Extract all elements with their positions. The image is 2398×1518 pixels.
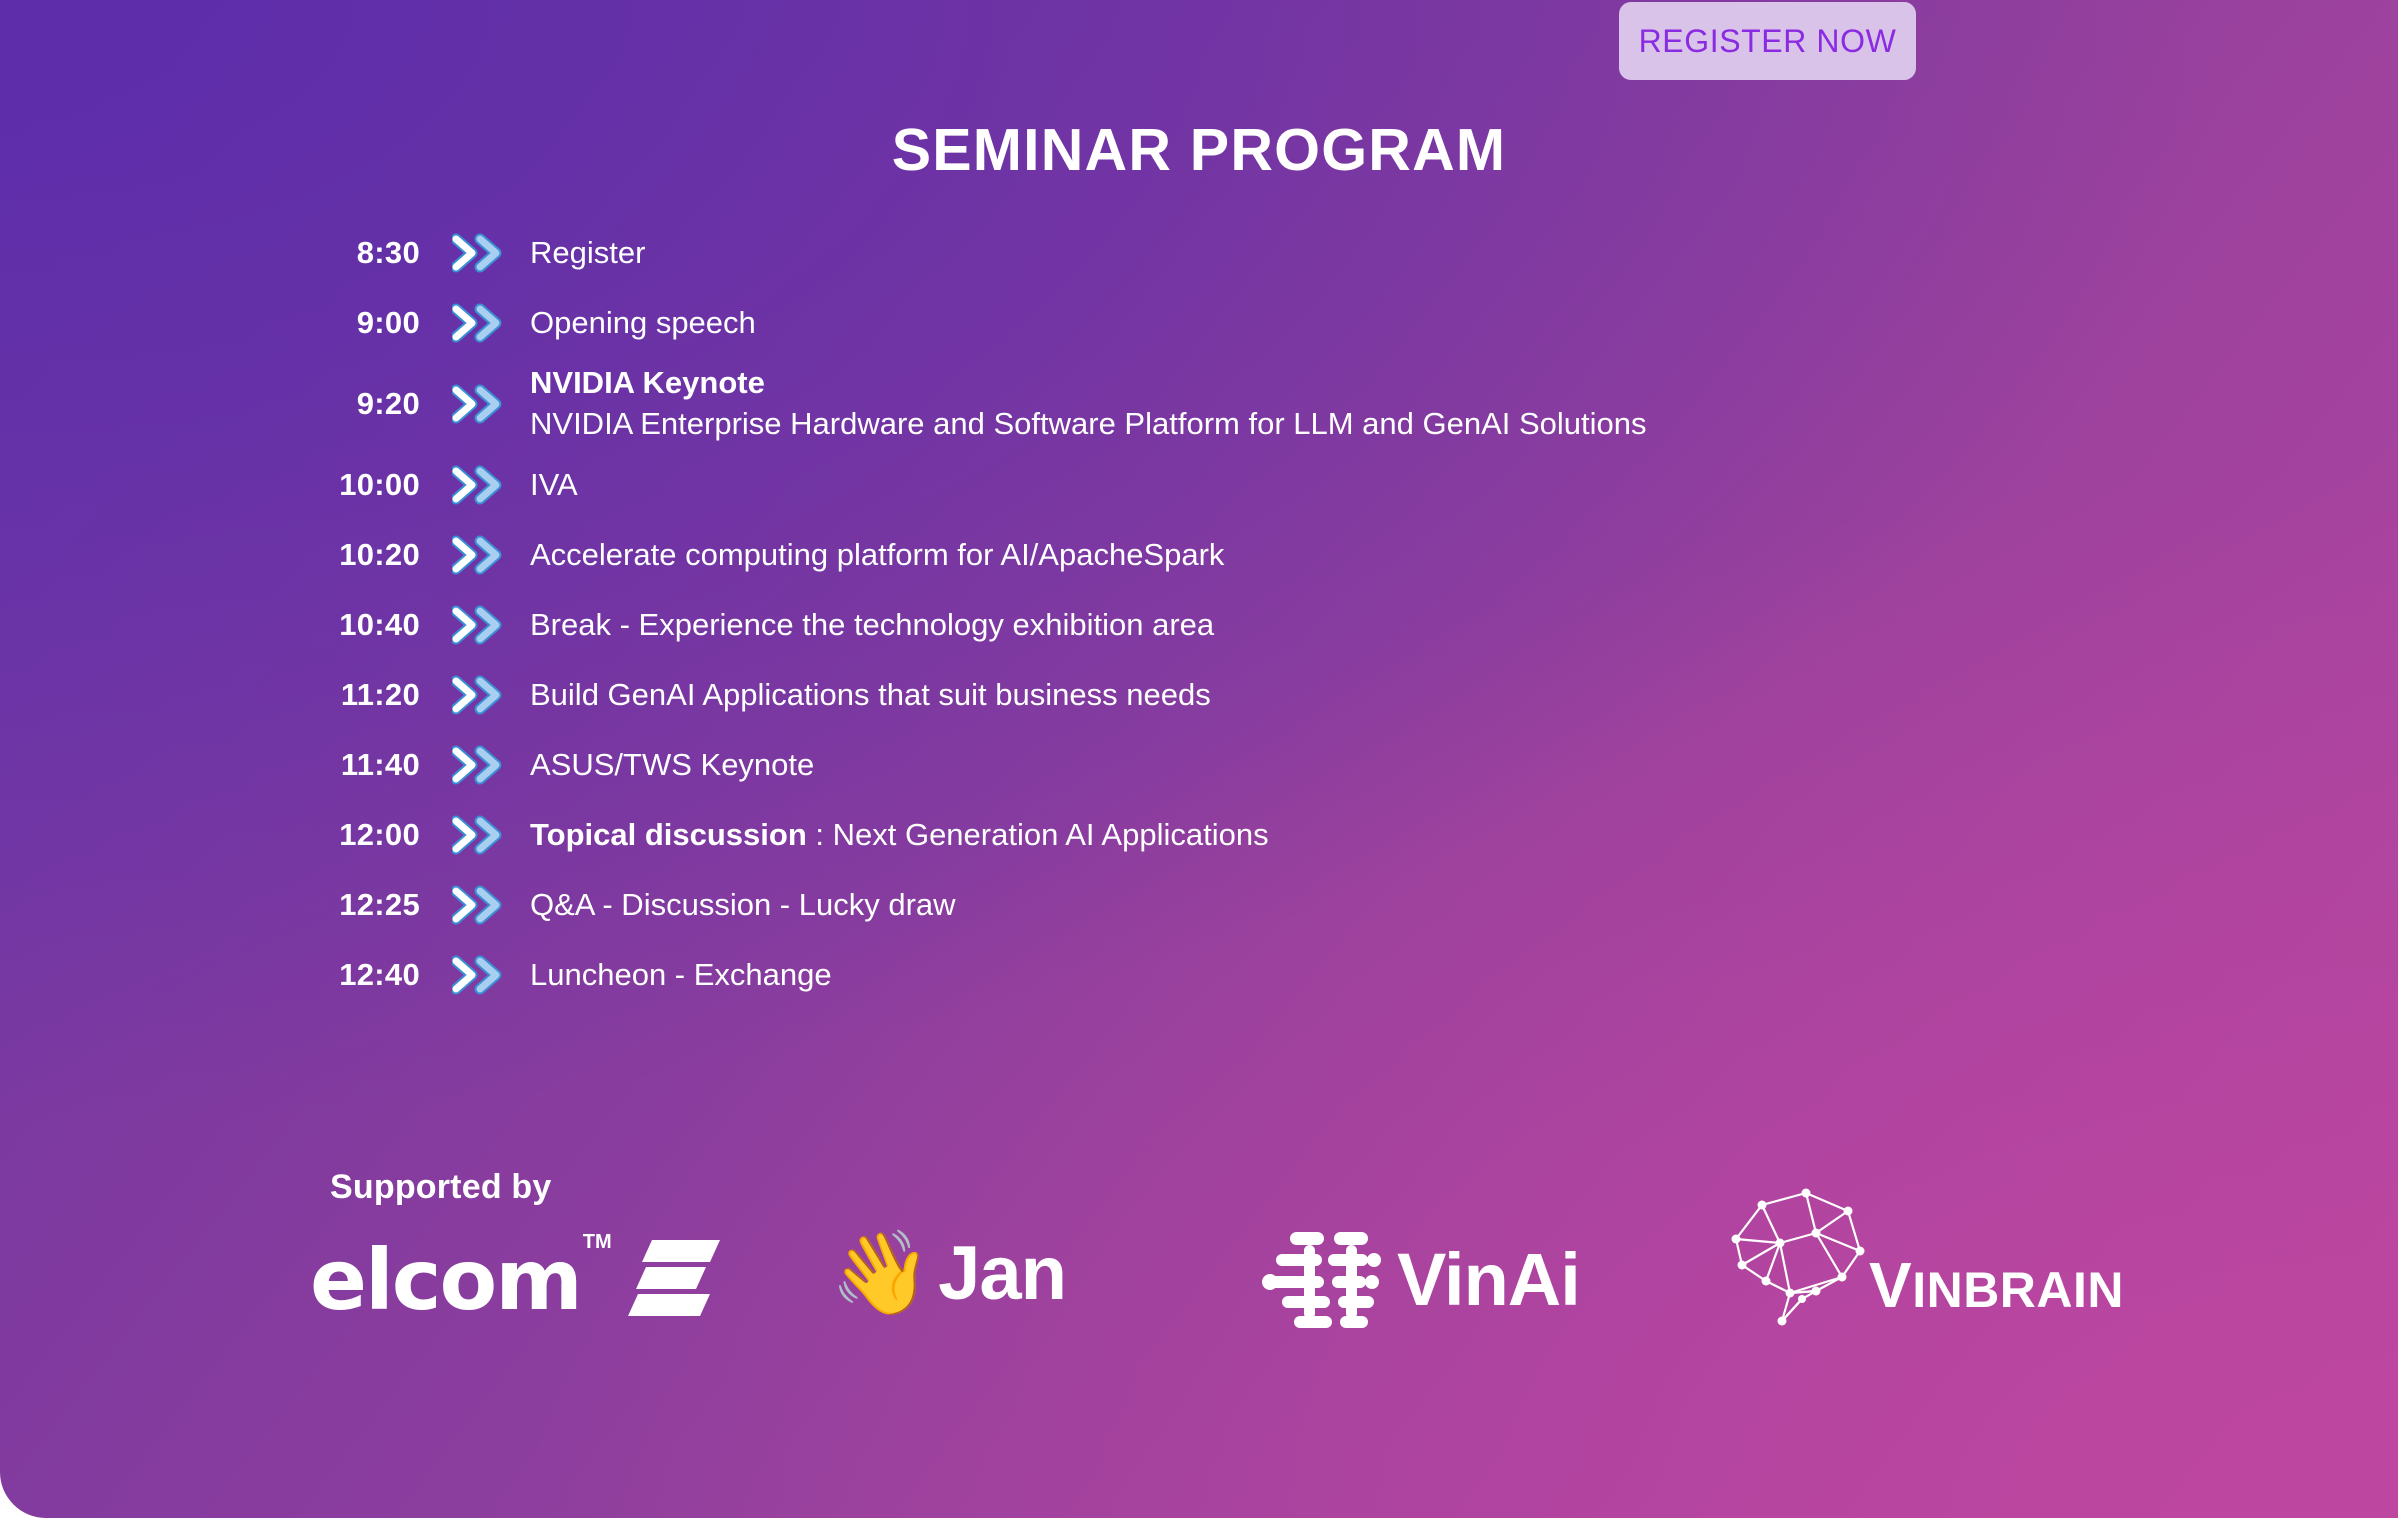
schedule-time: 12:40 bbox=[240, 957, 420, 993]
double-chevron-right-icon bbox=[420, 535, 526, 575]
sponsor-logo-row: elcom TM 👋 Jan bbox=[300, 1215, 2200, 1365]
double-chevron-right-icon bbox=[420, 955, 526, 995]
schedule-row: 12:00 Topical discussion : Next Generati… bbox=[240, 800, 2240, 870]
slanted-e-mark-icon bbox=[626, 1230, 722, 1331]
schedule-detail: NVIDIA Enterprise Hardware and Software … bbox=[530, 404, 2240, 445]
waving-hand-emoji-icon: 👋 bbox=[830, 1233, 932, 1315]
schedule-description: ASUS/TWS Keynote bbox=[526, 745, 2240, 786]
schedule-title: Topical discussion bbox=[530, 817, 807, 852]
schedule-title: Opening speech bbox=[530, 305, 756, 340]
schedule-row: 12:40 Luncheon - Exchange bbox=[240, 940, 2240, 1010]
supported-by-label: Supported by bbox=[330, 1168, 552, 1207]
schedule-title: Q&A - Discussion - Lucky draw bbox=[530, 887, 956, 922]
logo-vinai: VinAi bbox=[1260, 1215, 1580, 1345]
elcom-trademark-symbol: TM bbox=[583, 1231, 612, 1254]
register-now-button[interactable]: REGISTER NOW bbox=[1619, 2, 1916, 80]
double-chevron-right-icon bbox=[420, 675, 526, 715]
double-chevron-right-icon bbox=[420, 384, 526, 424]
double-chevron-right-icon bbox=[420, 885, 526, 925]
schedule-row: 9:00 Opening speech bbox=[240, 288, 2240, 358]
schedule-row: 10:00 IVA bbox=[240, 450, 2240, 520]
schedule-description: Topical discussion : Next Generation AI … bbox=[526, 815, 2240, 856]
schedule-title: Build GenAI Applications that suit busin… bbox=[530, 677, 1211, 712]
double-chevron-right-icon bbox=[420, 465, 526, 505]
seminar-program-poster: REGISTER NOW SEMINAR PROGRAM 8:30 Regist… bbox=[0, 0, 2398, 1518]
schedule-time: 9:00 bbox=[240, 305, 420, 341]
schedule-row: 10:20 Accelerate computing platform for … bbox=[240, 520, 2240, 590]
schedule-row: 8:30 Register bbox=[240, 218, 2240, 288]
schedule-description: Luncheon - Exchange bbox=[526, 955, 2240, 996]
schedule-row: 11:20 Build GenAI Applications that suit… bbox=[240, 660, 2240, 730]
schedule-description: Build GenAI Applications that suit busin… bbox=[526, 675, 2240, 716]
logo-elcom: elcom TM bbox=[310, 1215, 722, 1345]
schedule-row: 11:40 ASUS/TWS Keynote bbox=[240, 730, 2240, 800]
jan-wordmark: Jan bbox=[938, 1236, 1066, 1312]
schedule-description: Accelerate computing platform for AI/Apa… bbox=[526, 535, 2240, 576]
schedule-description: Register bbox=[526, 233, 2240, 274]
schedule-title: ASUS/TWS Keynote bbox=[530, 747, 814, 782]
schedule-row: 12:25 Q&A - Discussion - Lucky draw bbox=[240, 870, 2240, 940]
double-chevron-right-icon bbox=[420, 815, 526, 855]
double-chevron-right-icon bbox=[420, 233, 526, 273]
schedule-time: 12:25 bbox=[240, 887, 420, 923]
schedule-description: Break - Experience the technology exhibi… bbox=[526, 605, 2240, 646]
vinbrain-rest: INBRAIN bbox=[1912, 1262, 2124, 1318]
double-chevron-right-icon bbox=[420, 745, 526, 785]
schedule-time: 12:00 bbox=[240, 817, 420, 853]
vinbrain-initial: V bbox=[1869, 1249, 1912, 1321]
schedule-row: 10:40 Break - Experience the technology … bbox=[240, 590, 2240, 660]
double-chevron-right-icon bbox=[420, 605, 526, 645]
logo-jan: 👋 Jan bbox=[830, 1209, 1066, 1339]
schedule-detail: : Next Generation AI Applications bbox=[807, 817, 1269, 852]
schedule-description: Q&A - Discussion - Lucky draw bbox=[526, 885, 2240, 926]
schedule-time: 9:20 bbox=[240, 386, 420, 422]
logo-vinbrain: VINBRAIN bbox=[1720, 1193, 2124, 1323]
schedule-time: 10:20 bbox=[240, 537, 420, 573]
schedule-title: Register bbox=[530, 235, 645, 270]
schedule-time: 8:30 bbox=[240, 235, 420, 271]
schedule-time: 11:20 bbox=[240, 677, 420, 713]
schedule-title: Accelerate computing platform for AI/Apa… bbox=[530, 537, 1224, 572]
schedule-time: 10:00 bbox=[240, 467, 420, 503]
schedule-list: 8:30 Register 9:00 bbox=[240, 218, 2240, 1010]
node-circuit-mark-icon bbox=[1260, 1218, 1385, 1343]
vinai-wordmark: VinAi bbox=[1397, 1243, 1580, 1317]
schedule-row: 9:20 NVIDIA Keynote NVIDIA Enterprise Ha… bbox=[240, 358, 2240, 450]
schedule-title: Luncheon - Exchange bbox=[530, 957, 832, 992]
schedule-description: NVIDIA Keynote NVIDIA Enterprise Hardwar… bbox=[526, 363, 2240, 445]
double-chevron-right-icon bbox=[420, 303, 526, 343]
schedule-time: 10:40 bbox=[240, 607, 420, 643]
schedule-time: 11:40 bbox=[240, 747, 420, 783]
vinbrain-wordmark: VINBRAIN bbox=[1869, 1253, 2124, 1317]
schedule-description: IVA bbox=[526, 465, 2240, 506]
elcom-wordmark: elcom bbox=[310, 1238, 581, 1322]
schedule-title: Break - Experience the technology exhibi… bbox=[530, 607, 1214, 642]
schedule-description: Opening speech bbox=[526, 303, 2240, 344]
schedule-title: NVIDIA Keynote bbox=[530, 363, 2240, 404]
schedule-title: IVA bbox=[530, 467, 578, 502]
page-title: SEMINAR PROGRAM bbox=[0, 116, 2398, 184]
polygon-brain-mark-icon bbox=[1720, 1181, 1885, 1336]
